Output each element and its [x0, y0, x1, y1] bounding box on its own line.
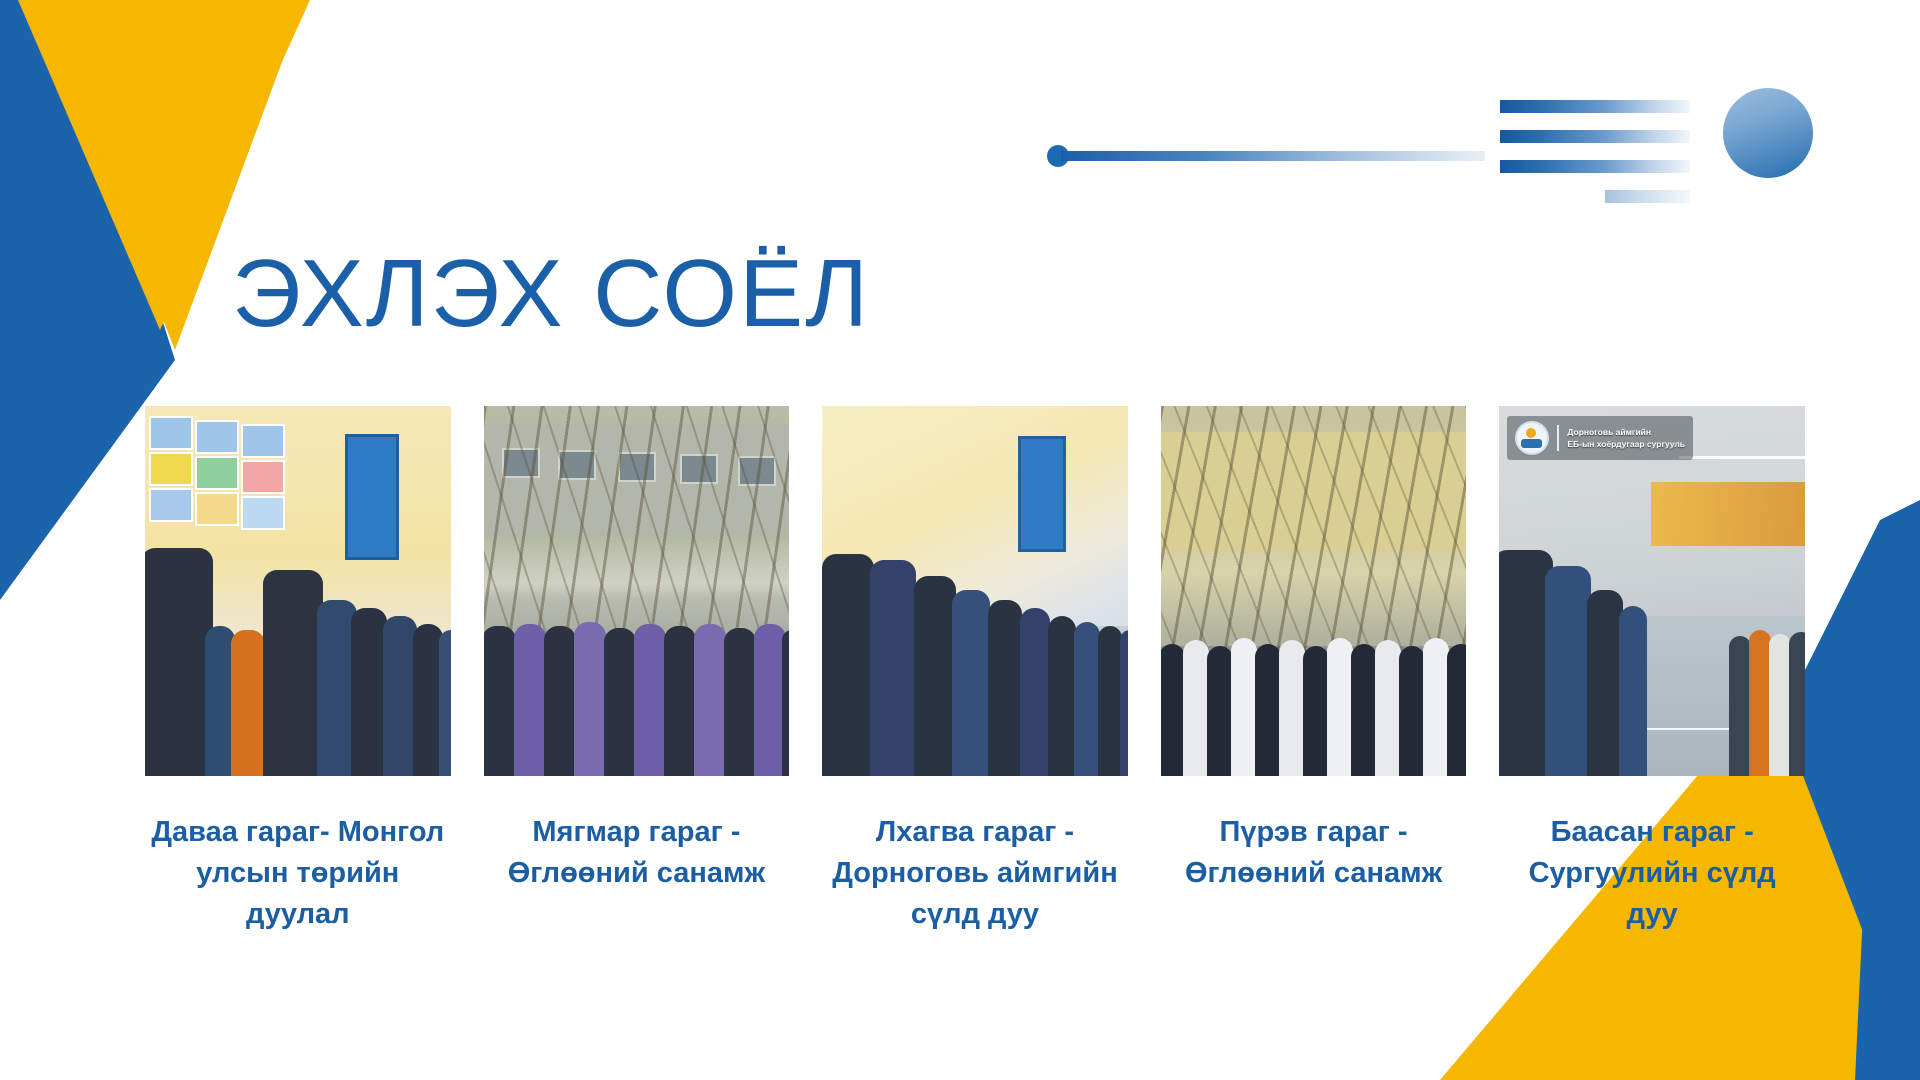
students-silhouettes	[1499, 546, 1805, 776]
gallery-photo-monday[interactable]	[145, 406, 451, 776]
students-silhouettes	[145, 546, 451, 776]
bottom-right-blue-sliver	[1855, 640, 1920, 1080]
school-emblem-icon	[1515, 421, 1549, 455]
page-title: ЭХЛЭХ СОЁЛ	[232, 246, 870, 342]
decorative-rule	[1047, 140, 1487, 170]
caption-tuesday: Мягмар гараг - Өглөөний санамж	[484, 812, 790, 936]
school-name-line1: Дорноговь аймгийн	[1567, 427, 1685, 437]
caption-thursday: Пүрэв гараг - Өглөөний санамж	[1161, 812, 1467, 936]
photo-gallery: Дорноговь аймгийн ЕБ-ын хоёрдугаар сургу…	[145, 406, 1805, 776]
gallery-photo-wednesday[interactable]	[822, 406, 1128, 776]
caption-wednesday: Лхагва гараг - Дорноговь аймгийн сүлд ду…	[822, 812, 1128, 936]
school-logo-overlay: Дорноговь аймгийн ЕБ-ын хоёрдугаар сургу…	[1507, 416, 1693, 460]
decorative-bar-3	[1500, 160, 1690, 173]
caption-friday: Баасан гараг - Сургуулийн сүлд дуу	[1499, 812, 1805, 936]
caption-row: Даваа гараг- Монгол улсын төрийн дуулал …	[145, 812, 1805, 936]
logo-divider	[1557, 425, 1559, 451]
decorative-bar-2	[1500, 130, 1690, 143]
presentation-slide: ЭХЛЭХ СОЁЛ	[0, 0, 1920, 1080]
wide-corridor-photo: Дорноговь аймгийн ЕБ-ын хоёрдугаар сургу…	[1499, 406, 1805, 776]
rule-gradient-bar	[1061, 151, 1485, 161]
decorative-circle	[1723, 88, 1813, 178]
students-silhouettes	[1161, 626, 1467, 776]
students-silhouettes	[822, 546, 1128, 776]
gallery-photo-thursday[interactable]	[1161, 406, 1467, 776]
corridor-photo	[822, 406, 1128, 776]
decorative-bar-4	[1605, 190, 1690, 203]
outdoor-assembly-photo	[1161, 406, 1467, 776]
decorative-bar-1	[1500, 100, 1690, 113]
students-silhouettes	[484, 546, 790, 776]
decorative-bars	[1500, 100, 1715, 190]
classroom-photo	[145, 406, 451, 776]
caption-monday: Даваа гараг- Монгол улсын төрийн дуулал	[145, 812, 451, 936]
school-name-line2: ЕБ-ын хоёрдугаар сургууль	[1567, 439, 1685, 449]
outdoor-photo	[484, 406, 790, 776]
gallery-photo-friday[interactable]: Дорноговь аймгийн ЕБ-ын хоёрдугаар сургу…	[1499, 406, 1805, 776]
gallery-photo-tuesday[interactable]	[484, 406, 790, 776]
